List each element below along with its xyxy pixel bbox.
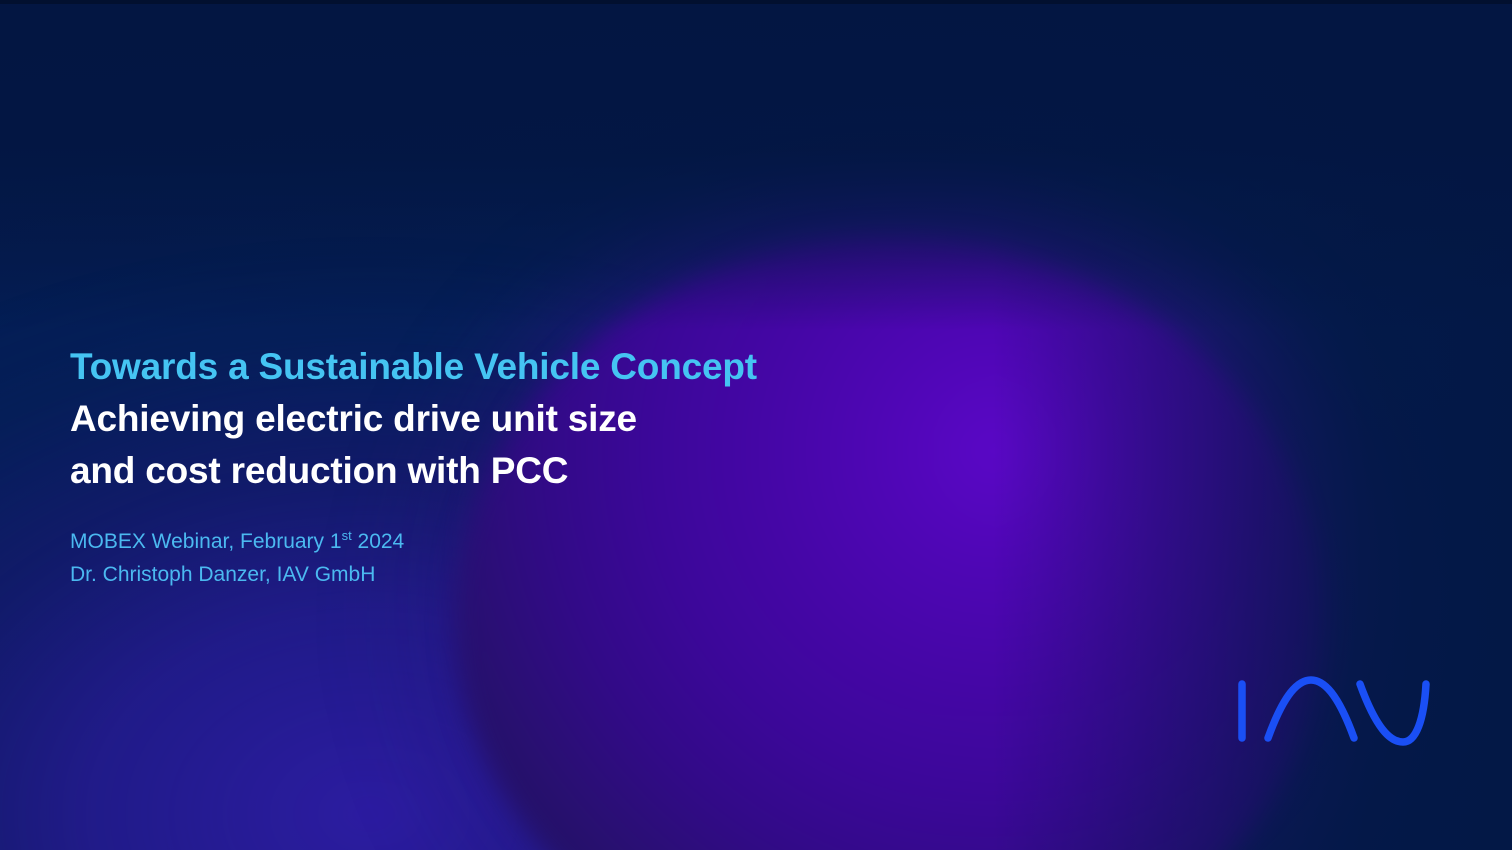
subtitle-presenter: Dr. Christoph Danzer, IAV GmbH <box>70 558 970 591</box>
subtitle-event: MOBEX Webinar, February 1st 2024 <box>70 525 970 558</box>
subtitle-event-suffix: 2024 <box>352 530 405 553</box>
title-text-block: Towards a Sustainable Vehicle Concept Ac… <box>70 341 970 591</box>
background-top-vignette <box>0 0 1512 330</box>
iav-logo <box>1232 668 1432 754</box>
subtitle-block: MOBEX Webinar, February 1st 2024 Dr. Chr… <box>70 525 970 591</box>
logo-letter-a <box>1268 680 1354 738</box>
title-slide: Towards a Sustainable Vehicle Concept Ac… <box>0 0 1512 850</box>
subtitle-event-prefix: MOBEX Webinar, February 1 <box>70 530 342 553</box>
background-top-edge <box>0 0 1512 4</box>
title-line-primary: Towards a Sustainable Vehicle Concept <box>70 341 970 393</box>
logo-letter-v <box>1360 684 1426 742</box>
subtitle-event-ordinal: st <box>342 528 352 543</box>
iav-logo-mark <box>1232 668 1432 754</box>
title-line-secondary: Achieving electric drive unit size <box>70 393 970 445</box>
title-line-tertiary: and cost reduction with PCC <box>70 445 970 497</box>
